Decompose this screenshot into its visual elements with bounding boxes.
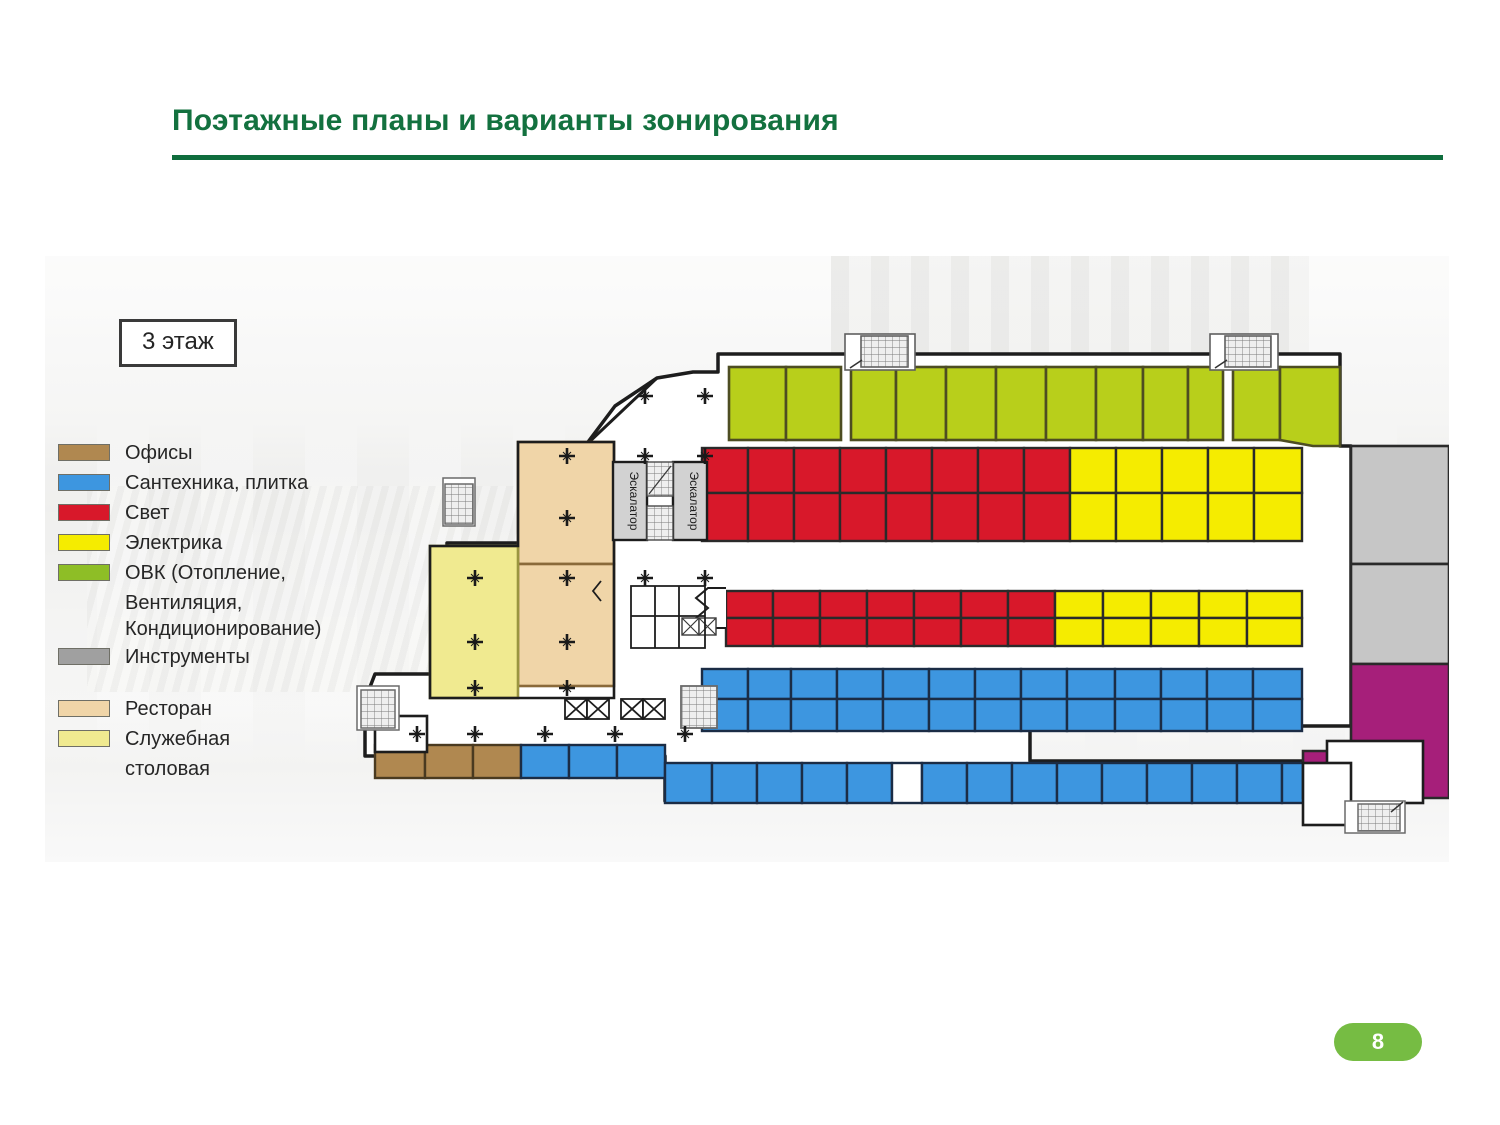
legend-label-light: Свет bbox=[125, 500, 169, 526]
zone-plumbing-lower-left bbox=[521, 745, 665, 778]
title-underline bbox=[172, 155, 1443, 160]
legend: Офисы Сантехника, плитка Свет Электрика … bbox=[58, 440, 321, 782]
zone-tools bbox=[1351, 446, 1449, 664]
zone-electric-upper bbox=[1070, 448, 1302, 541]
escalator-label-right: Эскалатор bbox=[687, 472, 701, 531]
zone-light-upper bbox=[702, 448, 1302, 541]
floor-label: 3 этаж bbox=[119, 319, 237, 367]
zone-light-middle bbox=[682, 588, 1302, 646]
legend-item-light: Свет bbox=[58, 500, 321, 526]
zone-plumbing-block bbox=[702, 669, 1302, 731]
page-number-badge: 8 bbox=[1334, 1023, 1422, 1061]
legend-item-restaurant: Ресторан bbox=[58, 696, 321, 722]
legend-item-plumbing: Сантехника, плитка bbox=[58, 470, 321, 496]
legend-swatch-hvac bbox=[58, 564, 110, 581]
legend-label-offices: Офисы bbox=[125, 440, 193, 466]
roof-equipment-bottom bbox=[1345, 801, 1405, 833]
legend-swatch-plumbing bbox=[58, 474, 110, 491]
legend-label-hvac-line2: Вентиляция, bbox=[125, 590, 321, 616]
legend-item-hvac: ОВК (Отопление, bbox=[58, 560, 321, 586]
legend-spacer bbox=[58, 674, 321, 696]
legend-item-electric: Электрика bbox=[58, 530, 321, 556]
floor-plan-panel: Эскалатор Эскалатор bbox=[45, 256, 1449, 862]
legend-label-hvac: ОВК (Отопление, bbox=[125, 560, 286, 586]
legend-swatch-light bbox=[58, 504, 110, 521]
legend-swatch-canteen bbox=[58, 730, 110, 747]
legend-swatch-restaurant bbox=[58, 700, 110, 717]
zone-electric-middle bbox=[1055, 591, 1302, 646]
escalator-label-left: Эскалатор bbox=[627, 472, 641, 531]
legend-label-restaurant: Ресторан bbox=[125, 696, 212, 722]
legend-item-offices: Офисы bbox=[58, 440, 321, 466]
legend-label-plumbing: Сантехника, плитка bbox=[125, 470, 308, 496]
legend-label-hvac-line3: Кондиционирование) bbox=[125, 616, 321, 642]
legend-label-tools: Инструменты bbox=[125, 644, 250, 670]
legend-swatch-offices bbox=[58, 444, 110, 461]
legend-label-canteen-line2: столовая bbox=[125, 756, 321, 782]
legend-label-canteen: Служебная bbox=[125, 726, 230, 752]
legend-swatch-tools bbox=[58, 648, 110, 665]
legend-label-electric: Электрика bbox=[125, 530, 222, 556]
legend-item-canteen: Служебная bbox=[58, 726, 321, 752]
zone-plumbing-bottom-strip bbox=[665, 763, 1327, 803]
zone-hvac bbox=[729, 367, 1340, 446]
zone-canteen bbox=[430, 546, 518, 698]
legend-item-tools: Инструменты bbox=[58, 644, 321, 670]
page-title: Поэтажные планы и варианты зонирования bbox=[172, 104, 839, 138]
legend-swatch-electric bbox=[58, 534, 110, 551]
